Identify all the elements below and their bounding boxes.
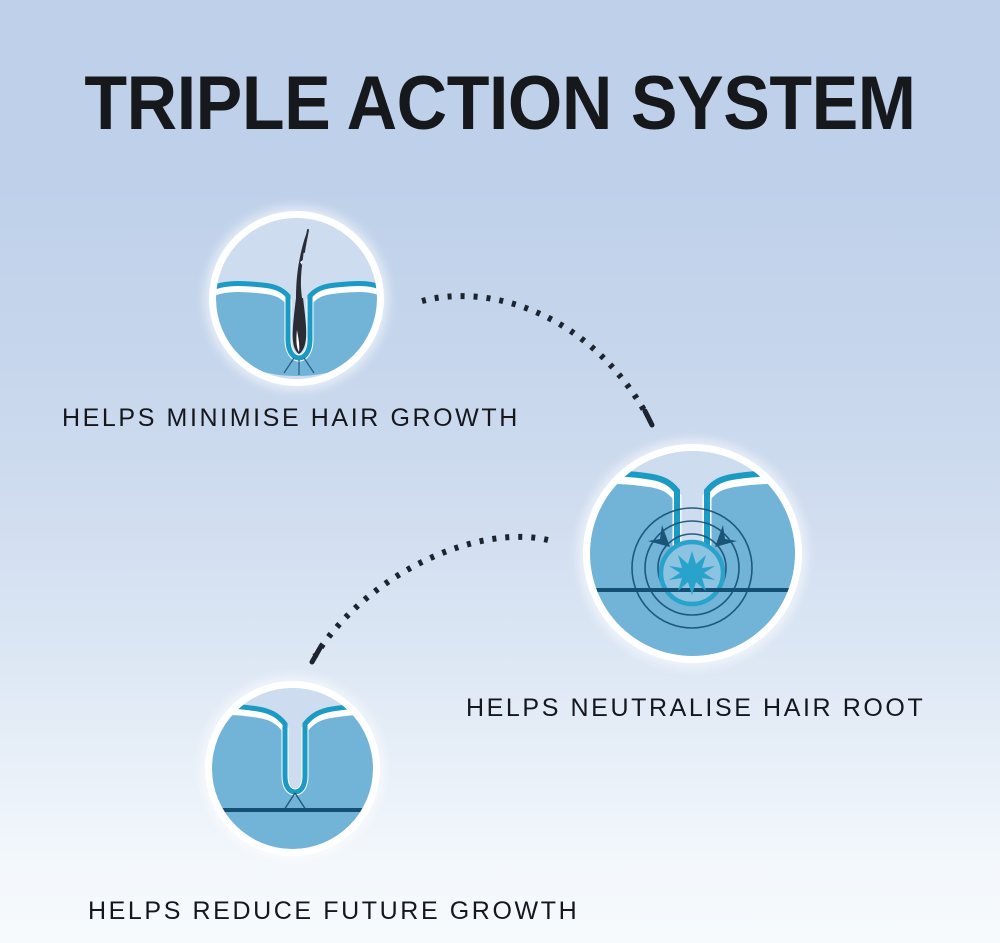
step-2-badge [583,444,802,663]
hair-follicle-with-hair-icon [216,218,377,379]
connector-arc-step2-to-step3 [290,510,570,675]
step-1-label: HELPS MINIMISE HAIR GROWTH [62,404,520,433]
infographic-canvas: TRIPLE ACTION SYSTEM [0,0,1000,943]
step-3-badge [205,681,380,856]
step-2-label: HELPS NEUTRALISE HAIR ROOT [466,694,925,723]
page-title: TRIPLE ACTION SYSTEM [40,64,960,144]
empty-follicle-icon [212,688,373,849]
step-3-label: HELPS REDUCE FUTURE GROWTH [88,897,579,926]
step-1-badge [209,211,384,386]
hair-root-energy-pulse-icon [590,451,795,656]
